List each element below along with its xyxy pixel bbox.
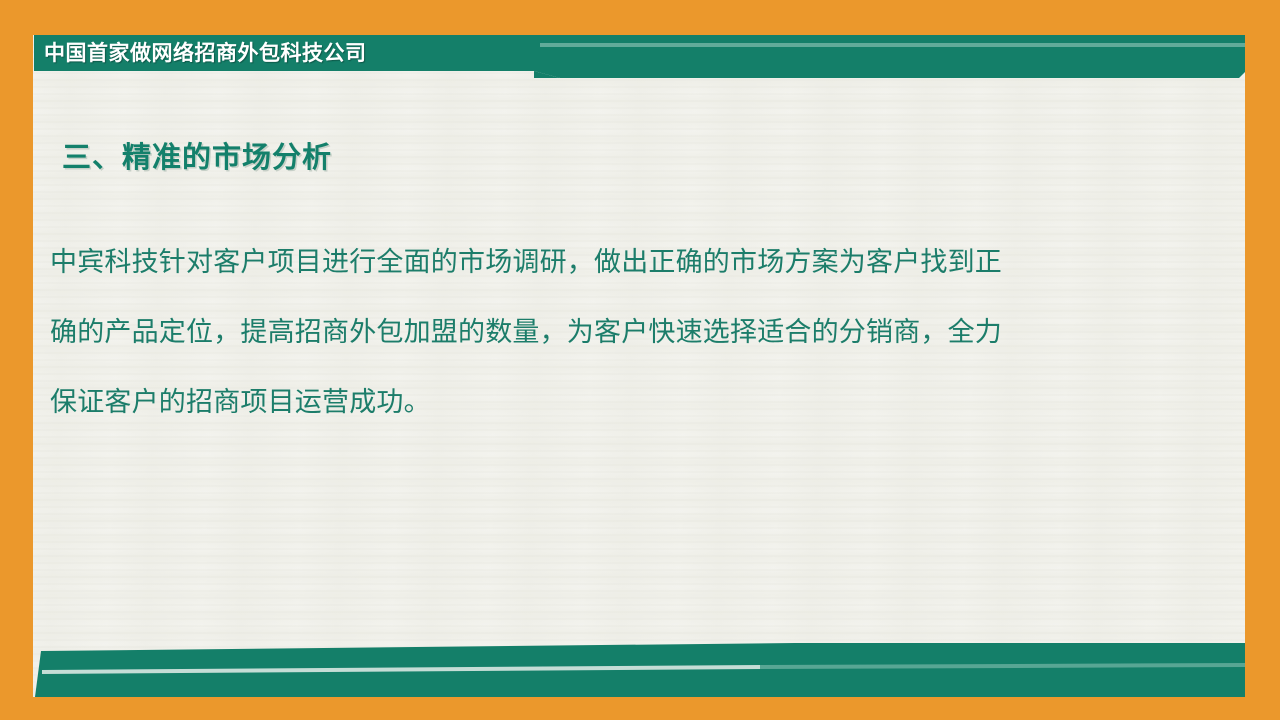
section-title: 三、精准的市场分析 bbox=[62, 134, 332, 176]
frame-bar-right bbox=[1245, 0, 1280, 720]
body-line: 保证客户的招商项目运营成功。 bbox=[50, 368, 1190, 438]
slide-canvas: 中国首家做网络招商外包科技公司 三、精准的市场分析 中宾科技针对客户项目进行全面… bbox=[0, 0, 1280, 720]
body-line: 中宾科技针对客户项目进行全面的市场调研，做出正确的市场方案为客户找到正 bbox=[50, 228, 1190, 298]
body-paragraph: 中宾科技针对客户项目进行全面的市场调研，做出正确的市场方案为客户找到正 确的产品… bbox=[50, 228, 1190, 438]
frame-bar-left bbox=[0, 0, 33, 720]
frame-bar-bottom bbox=[33, 697, 1245, 720]
frame-bar-top bbox=[33, 0, 1245, 35]
body-line: 确的产品定位，提高招商外包加盟的数量，为客户快速选择适合的分销商，全力 bbox=[50, 298, 1190, 368]
